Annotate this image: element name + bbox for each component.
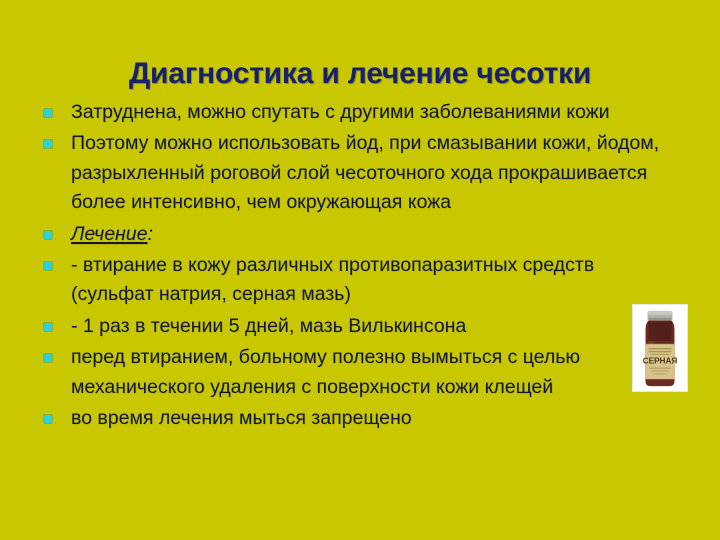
list-item-treatment-heading: Лечение: (40, 220, 680, 249)
treatment-heading-word: Лечение (71, 223, 147, 245)
bullet-square-icon (44, 109, 52, 117)
bullet-square-icon (44, 262, 52, 270)
list-item-text: - 1 раз в течении 5 дней, мазь Вилькинсо… (71, 312, 680, 341)
bullet-square-icon (44, 140, 52, 148)
bullet-list: Затруднена, можно спутать с другими забо… (40, 98, 680, 435)
bullet-square-icon (44, 231, 52, 239)
jar-illustration: СЕРНАЯ (633, 305, 687, 391)
sulfur-ointment-jar-image: СЕРНАЯ (632, 304, 688, 392)
list-item-text: Лечение: (71, 220, 680, 249)
list-item: Затруднена, можно спутать с другими забо… (40, 98, 680, 127)
page-title: Диагностика и лечение чесотки (0, 56, 720, 92)
list-item: - 1 раз в течении 5 дней, мазь Вилькинсо… (40, 312, 680, 341)
list-item-text: во время лечения мыться запрещено (71, 404, 680, 433)
bullet-square-icon (44, 354, 52, 362)
list-item-text: перед втиранием, больному полезно вымыть… (71, 343, 631, 402)
list-item-text: Затруднена, можно спутать с другими забо… (71, 98, 680, 127)
bullet-square-icon (44, 323, 52, 331)
list-item-text: Поэтому можно использовать йод, при смаз… (71, 129, 680, 217)
list-item: перед втиранием, больному полезно вымыть… (40, 343, 631, 402)
list-item: Поэтому можно использовать йод, при смаз… (40, 129, 680, 217)
bullet-square-icon (44, 415, 52, 423)
list-item-text: - втирание в кожу различных противопараз… (71, 251, 631, 310)
jar-label-text: СЕРНАЯ (643, 357, 678, 366)
treatment-heading-colon: : (147, 223, 152, 245)
list-item: во время лечения мыться запрещено (40, 404, 680, 433)
list-item: - втирание в кожу различных противопараз… (40, 251, 631, 310)
slide-canvas: Диагностика и лечение чесотки Затруднена… (0, 0, 720, 540)
